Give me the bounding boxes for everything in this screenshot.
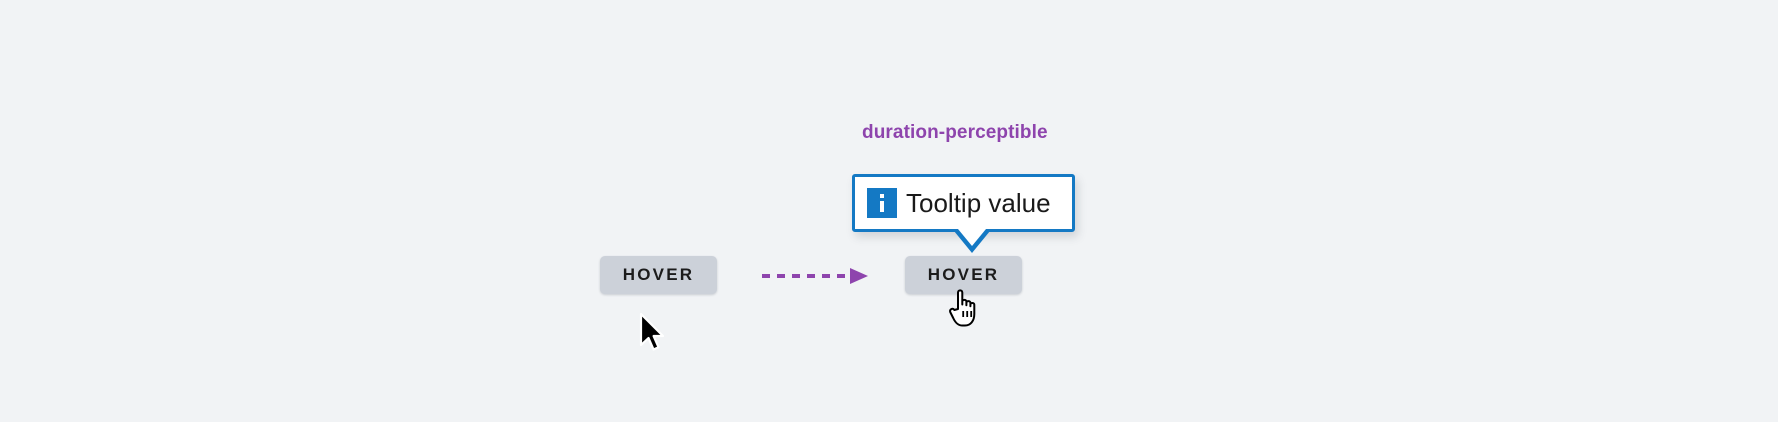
pointing-hand-cursor-icon [946,285,982,329]
tooltip-value-text: Tooltip value [906,190,1051,216]
demo-canvas: duration-perceptible Tooltip value HOVER… [0,0,1778,422]
tooltip-tail-fill [958,229,986,246]
dashed-arrow-right-icon [762,264,870,288]
hover-button-source[interactable]: HOVER [600,256,717,294]
mouse-pointer-arrow-icon [638,312,670,356]
info-icon [867,188,897,218]
tooltip: Tooltip value [852,174,1075,232]
duration-annotation-label: duration-perceptible [862,122,1048,144]
